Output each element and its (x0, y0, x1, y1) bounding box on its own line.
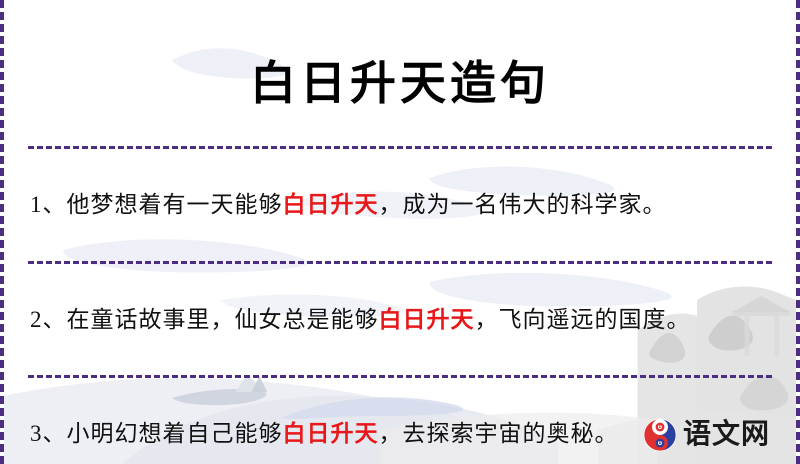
sentence-text-after-1: ，成为一名伟大的科学家。 (379, 192, 667, 217)
sentence-item-1: 1、他梦想着有一天能够白日升天，成为一名伟大的科学家。 (26, 172, 774, 239)
worksheet-content: 白日升天造句 1、他梦想着有一天能够白日升天，成为一名伟大的科学家。 2、在童话… (4, 31, 796, 464)
sentence-index-2: 2、 (30, 307, 67, 332)
sentence-index-1: 1、 (30, 192, 67, 217)
keyword-highlight-2: 白日升天 (379, 307, 475, 332)
divider-1 (28, 261, 772, 264)
sentence-item-2: 2、在童话故事里，仙女总是能够白日升天，飞向遥远的国度。 (26, 287, 774, 352)
page-title: 白日升天造句 (26, 31, 774, 115)
sentence-text-before-2: 在童话故事里，仙女总是能够 (67, 307, 379, 332)
site-logo[interactable]: 语文网 (643, 418, 770, 452)
worksheet-page: 白日升天造句 1、他梦想着有一天能够白日升天，成为一名伟大的科学家。 2、在童话… (0, 0, 800, 464)
yin-yang-circle-logo-icon (643, 418, 677, 452)
sentence-text-after-2: ，飞向遥远的国度。 (475, 307, 691, 332)
sentence-index-3: 3、 (30, 421, 67, 446)
divider-2 (28, 375, 772, 378)
keyword-highlight-1: 白日升天 (283, 192, 379, 217)
divider-top (28, 146, 772, 149)
sentence-text-before-1: 他梦想着有一天能够 (67, 192, 283, 217)
sentence-text-after-3: ，去探索宇宙的奥秘。 (379, 421, 619, 446)
keyword-highlight-3: 白日升天 (283, 421, 379, 446)
sentence-text-before-3: 小明幻想着自己能够 (67, 421, 283, 446)
site-logo-text: 语文网 (683, 421, 770, 449)
